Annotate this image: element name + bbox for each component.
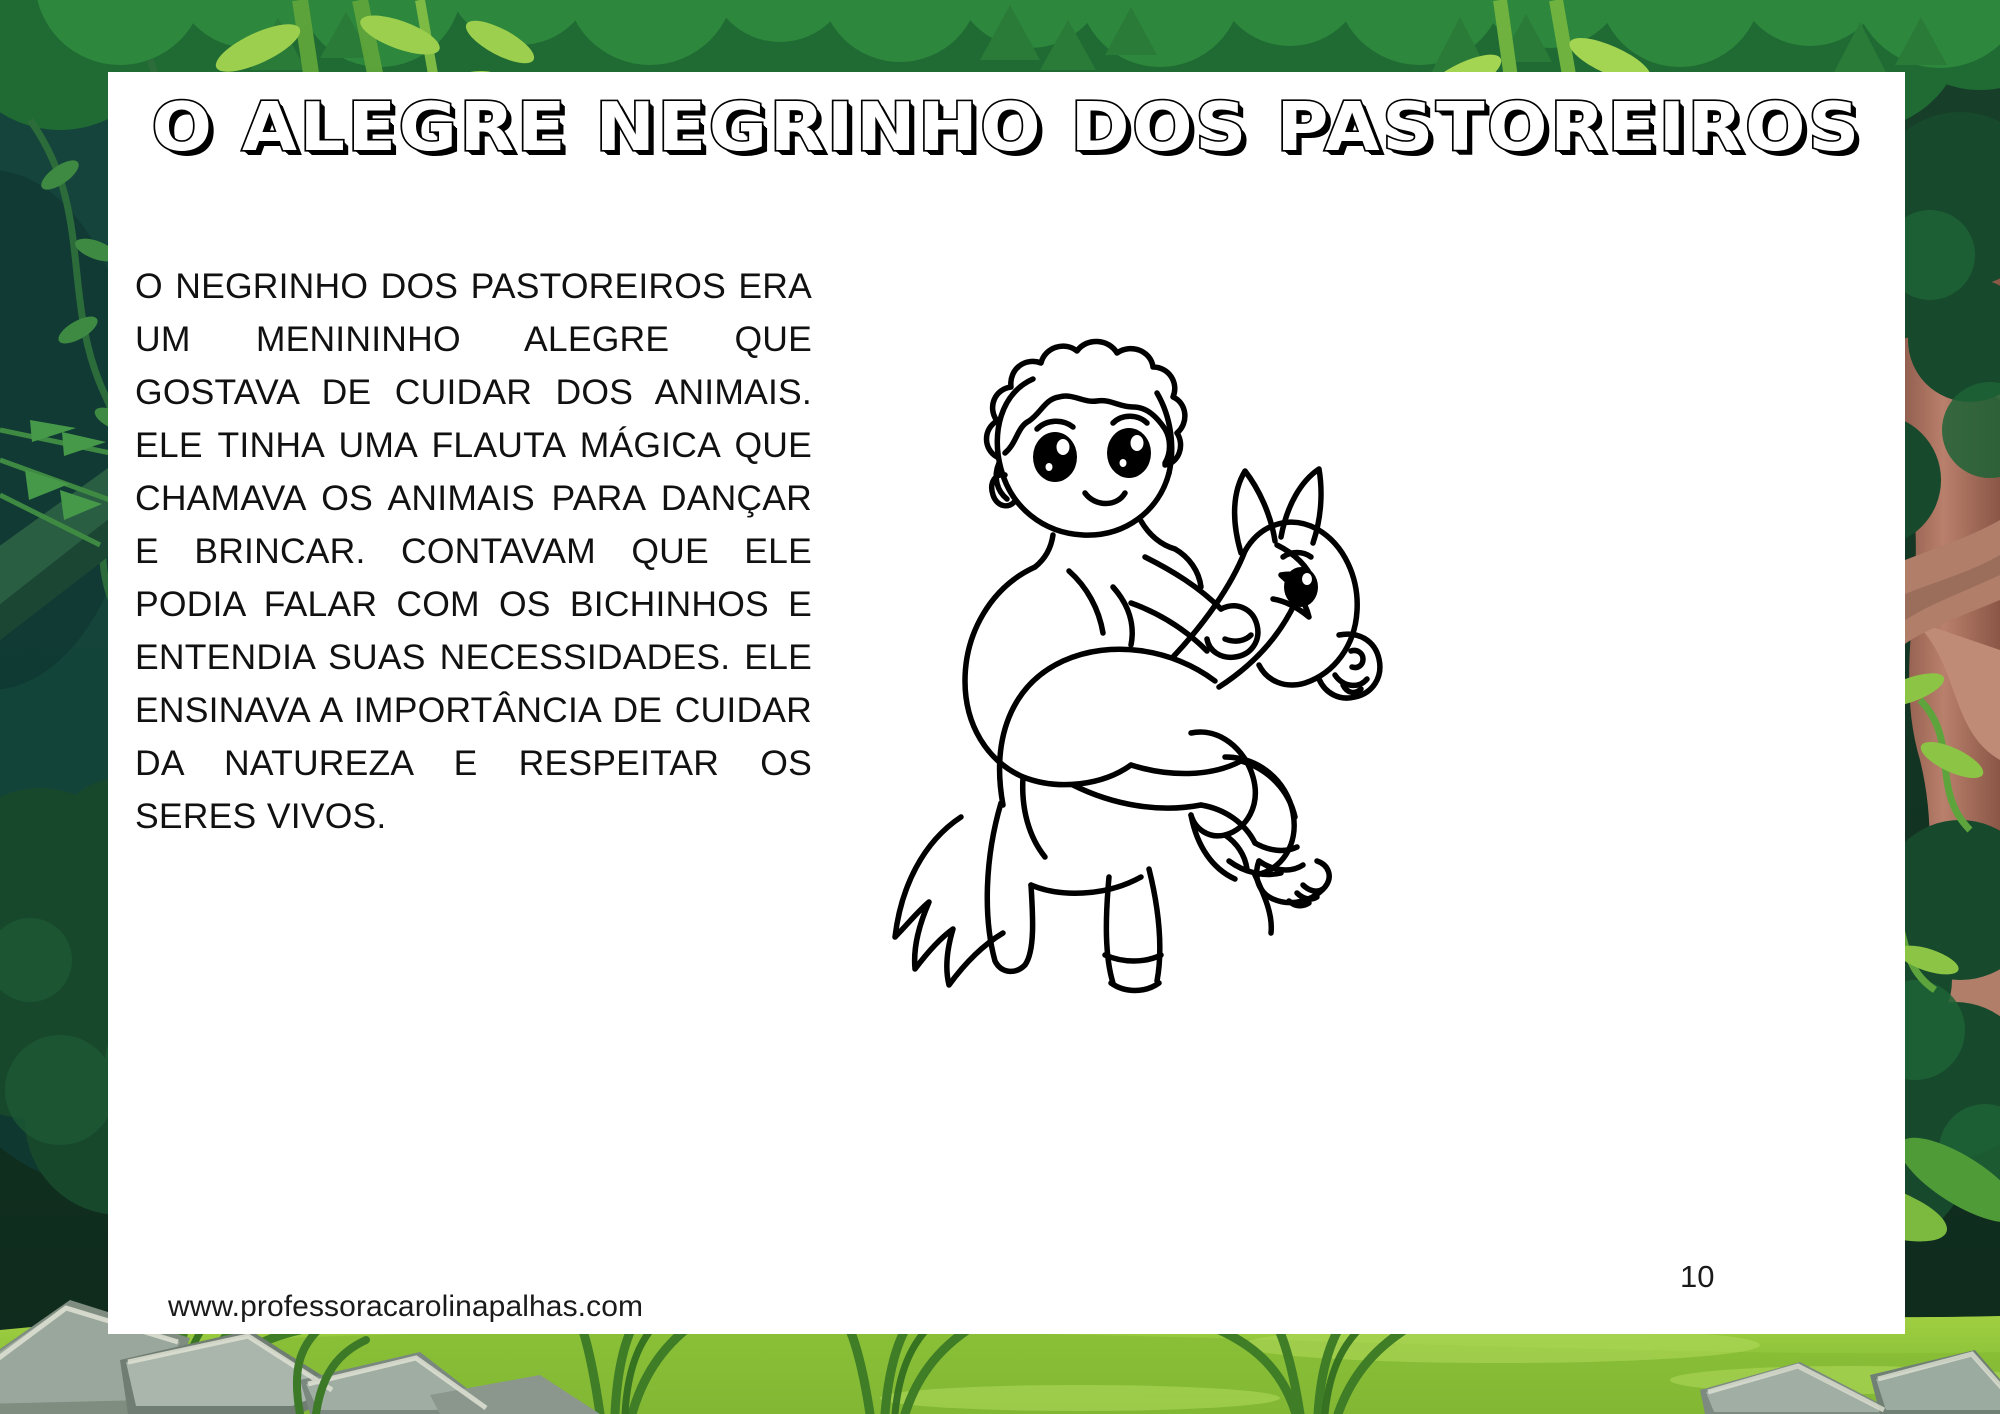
page-title-container: O ALEGRE NEGRINHO DOS PASTOREIROS bbox=[108, 94, 1905, 161]
page-title: O ALEGRE NEGRINHO DOS PASTOREIROS bbox=[151, 94, 1861, 161]
page-canvas: O ALEGRE NEGRINHO DOS PASTOREIROS O NEGR… bbox=[0, 0, 2000, 1414]
page-number: 10 bbox=[1680, 1259, 1714, 1295]
boy-riding-horse-illustration bbox=[873, 257, 1413, 997]
story-paragraph: O NEGRINHO DOS PASTOREIROS ERA UM MENINI… bbox=[135, 260, 812, 843]
website-url: www.professoracarolinapalhas.com bbox=[168, 1290, 643, 1324]
line-art-drawing bbox=[873, 257, 1413, 997]
worksheet-page: O ALEGRE NEGRINHO DOS PASTOREIROS O NEGR… bbox=[108, 72, 1905, 1334]
